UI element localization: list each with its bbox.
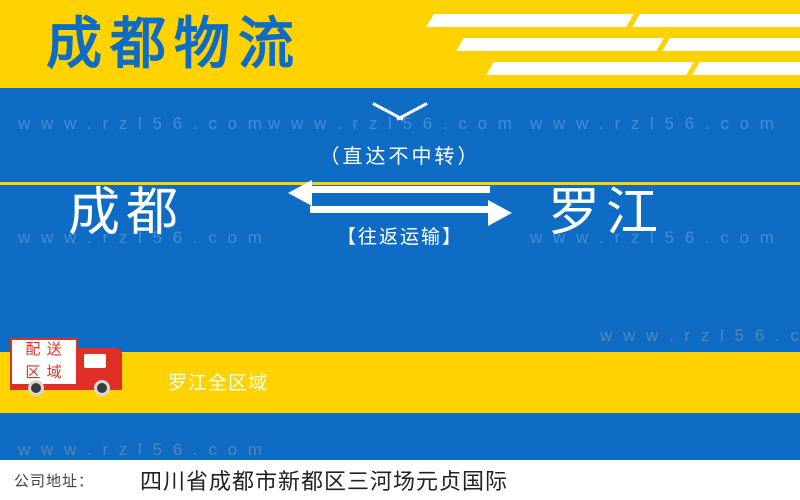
direct-note: （直达不中转）	[0, 140, 800, 169]
truck-badge-text: 配 送 区 域	[10, 338, 78, 386]
roundtrip-note: 【往返运输】	[0, 222, 800, 249]
coverage-label: 罗江全区域	[168, 368, 268, 395]
distance-text: 全程约113.9 公里	[165, 279, 384, 309]
duration-text: 预估耗时1.9 小时	[418, 279, 635, 309]
logistics-poster: 成都物流 w w w . r z l 5 6 . c o m w w w . r…	[0, 0, 800, 500]
footer-address-value: 四川省成都市新都区三河场元贞国际	[140, 464, 508, 496]
watermark: w w w . r z l 5 6 . c o m	[18, 440, 265, 460]
stats-line: 全程约113.9 公里预估耗时1.9 小时	[0, 272, 800, 311]
chevron-right-icon	[426, 14, 634, 27]
double-arrow-icon	[288, 184, 512, 220]
truck-badge-line1: 配 送	[10, 338, 78, 361]
truck-badge-line2: 区 域	[10, 361, 78, 384]
delivery-truck-icon: 配 送 区 域	[10, 338, 150, 400]
watermark: w w w . r z l 5 6 . c o m	[600, 326, 800, 346]
chevron-right-icon	[456, 38, 664, 51]
chevron-right-icon	[692, 62, 800, 75]
chevron-right-icon	[486, 62, 694, 75]
header-chevron-group	[420, 0, 800, 88]
chevron-right-icon	[632, 14, 800, 27]
chevron-right-icon	[662, 38, 800, 51]
header-band: 成都物流	[0, 0, 800, 88]
watermark: w w w . r z l 5 6 . c o m	[18, 114, 265, 134]
divider	[0, 410, 800, 413]
footer-address-label: 公司地址：	[14, 470, 94, 491]
page-title: 成都物流	[46, 10, 302, 78]
watermark: w w w . r z l 5 6 . c o m	[530, 114, 777, 134]
chevron-down-icon	[373, 96, 427, 118]
